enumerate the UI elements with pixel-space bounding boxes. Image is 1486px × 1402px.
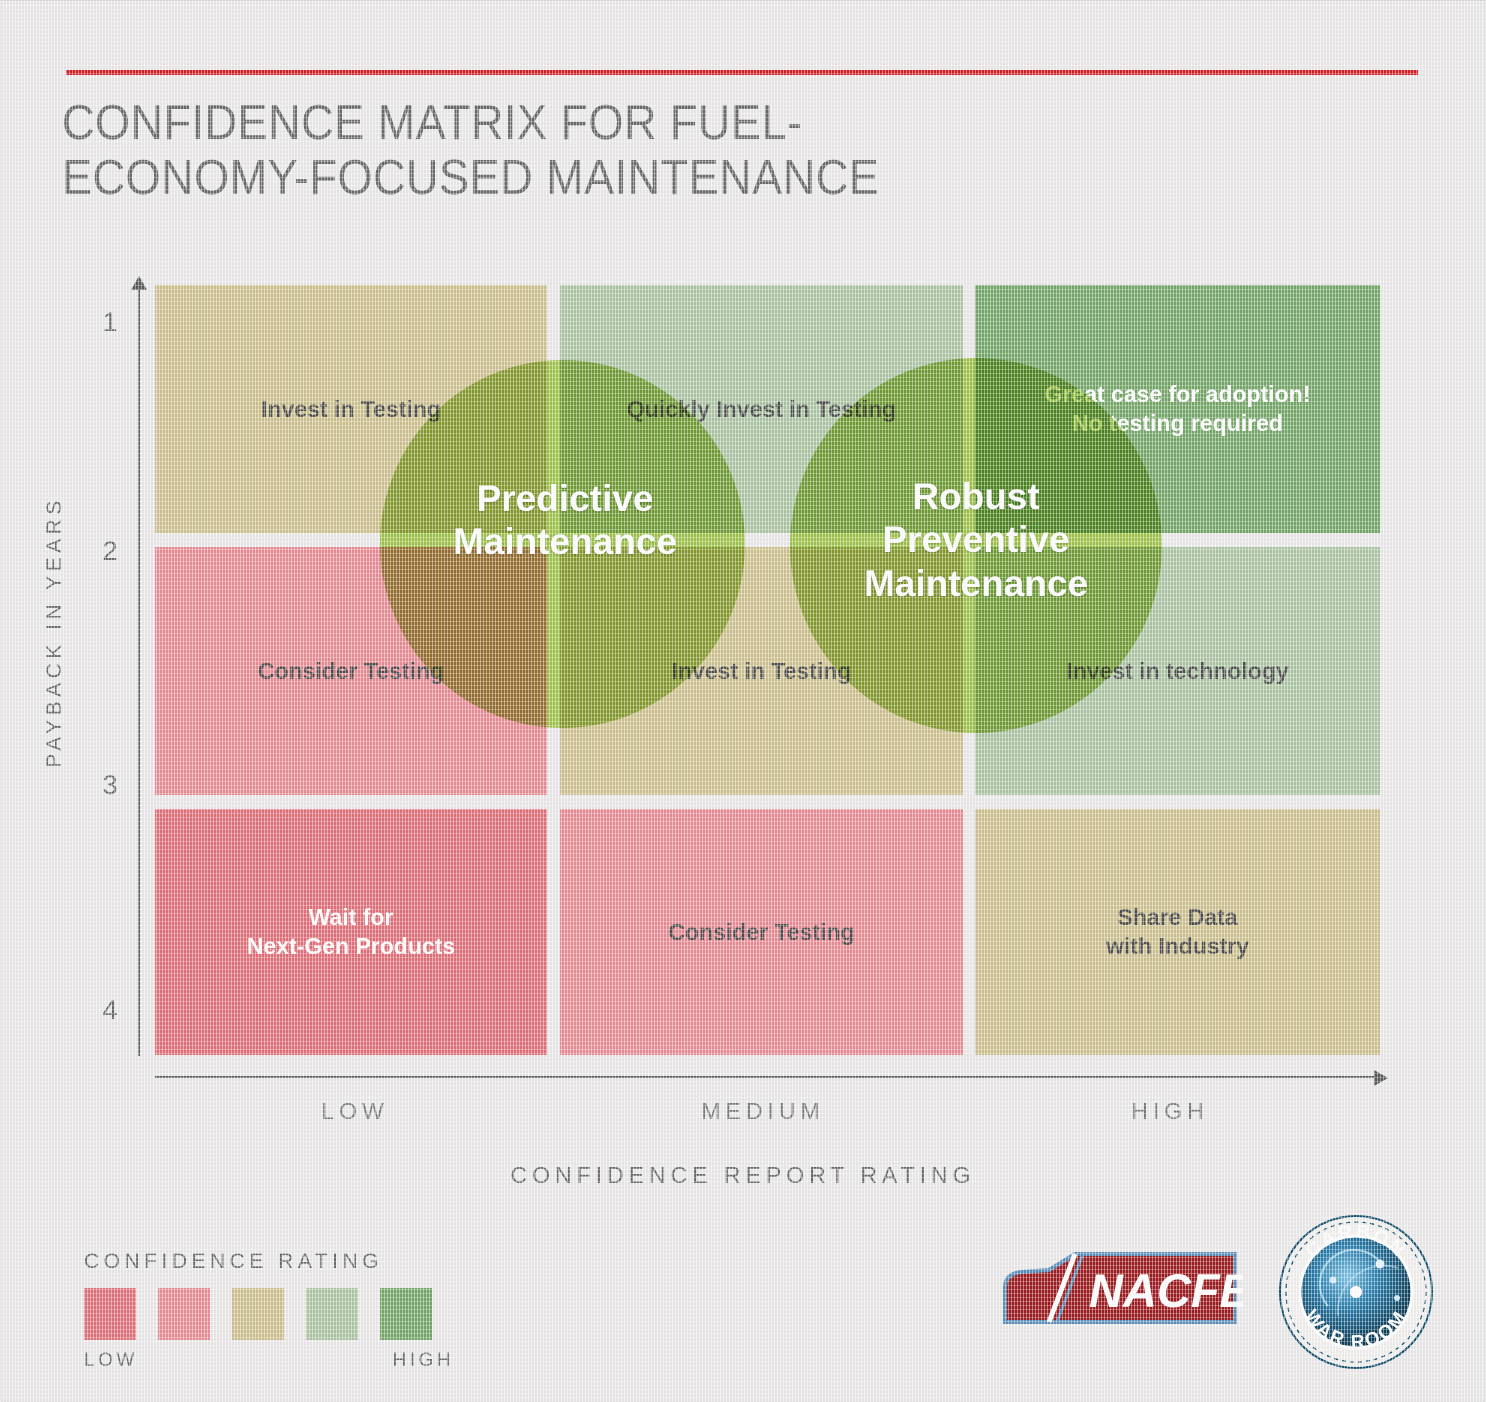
nacfe-logo: NACFE <box>997 1248 1243 1332</box>
title-rule <box>66 70 1418 75</box>
matrix-cell-label-line1: Share Data <box>1117 904 1237 930</box>
x-axis-line <box>155 1076 1377 1078</box>
matrix-cell-low-3[interactable]: Wait for Next-Gen Products <box>155 809 547 1055</box>
x-axis-arrow-icon <box>1374 1070 1388 1086</box>
y-tick-2: 2 <box>90 536 130 567</box>
legend-swatch-1 <box>84 1288 136 1340</box>
bubble-label-line1: Robust <box>912 476 1039 517</box>
bubble-predictive-maintenance-label: Predictive Maintenance <box>380 460 750 580</box>
nacfe-logo-icon: NACFE <box>997 1248 1243 1332</box>
nacfe-logo-text: NACFE <box>1089 1264 1243 1317</box>
x-tick-low: LOW <box>205 1098 505 1125</box>
legend-swatch-4 <box>306 1288 358 1340</box>
legend-swatch-5 <box>380 1288 432 1340</box>
x-tick-high: HIGH <box>1020 1098 1320 1125</box>
matrix-cell-label-line2: Next-Gen Products <box>247 933 455 959</box>
confidence-matrix-grid: Invest in Testing Quickly Invest in Test… <box>155 285 1380 1055</box>
legend-title: CONFIDENCE RATING <box>84 1250 454 1274</box>
y-tick-3: 3 <box>90 770 130 801</box>
matrix-cell-label-line2: with Industry <box>1106 933 1249 959</box>
x-tick-medium: MEDIUM <box>613 1098 913 1125</box>
matrix-cell-label: Wait for Next-Gen Products <box>247 903 455 961</box>
bubble-label-line1: Predictive <box>477 478 654 519</box>
matrix-cell-label-line1: Wait for <box>309 904 394 930</box>
bubble-label-line2: Preventive <box>882 519 1069 560</box>
x-axis-label: CONFIDENCE REPORT RATING <box>0 1162 1486 1189</box>
legend-endpoints: LOW HIGH <box>84 1350 454 1372</box>
matrix-cell-high-3[interactable]: Share Data with Industry <box>975 809 1380 1055</box>
legend: CONFIDENCE RATING LOW HIGH <box>84 1250 454 1372</box>
matrix-cell-label: Consider Testing <box>258 657 444 686</box>
legend-swatches <box>84 1288 454 1340</box>
matrix-cell-label: Consider Testing <box>668 918 854 947</box>
y-axis-line <box>138 283 140 1056</box>
bubble-label-line3: Maintenance <box>864 563 1088 604</box>
y-axis-ticks: 1 2 3 4 <box>70 0 130 1402</box>
legend-swatch-3 <box>232 1288 284 1340</box>
matrix-cell-medium-3[interactable]: Consider Testing <box>560 809 963 1055</box>
matrix-cell-label: Invest in Testing <box>261 395 441 424</box>
carbon-war-room-logo-icon: CARBON WAR ROOM <box>1276 1212 1436 1372</box>
carbon-war-room-logo: CARBON WAR ROOM <box>1276 1212 1436 1372</box>
bubble-robust-preventive-maintenance-label: Robust Preventive Maintenance <box>790 455 1162 625</box>
bubble-label-line2: Maintenance <box>453 521 677 562</box>
page-title: CONFIDENCE MATRIX FOR FUEL-ECONOMY-FOCUS… <box>62 96 982 207</box>
legend-low-label: LOW <box>84 1350 138 1372</box>
y-tick-4: 4 <box>90 995 130 1026</box>
matrix-cell-label: Share Data with Industry <box>1106 903 1249 961</box>
legend-swatch-2 <box>158 1288 210 1340</box>
y-axis-label: PAYBACK IN YEARS <box>43 467 67 797</box>
y-tick-1: 1 <box>90 307 130 338</box>
legend-high-label: HIGH <box>393 1350 455 1372</box>
